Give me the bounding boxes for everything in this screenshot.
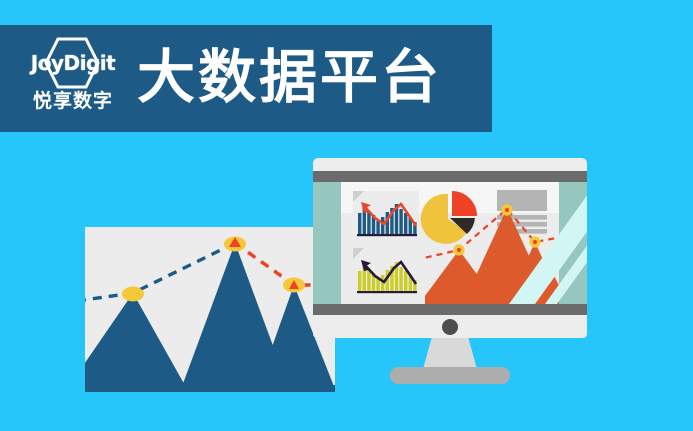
logo-subtext: 悦享数字	[33, 92, 113, 111]
trend-line	[364, 204, 416, 226]
brand-logo: JoyDigit 悦享数字	[14, 33, 132, 125]
mountain-trend-panel	[85, 227, 335, 392]
logo-wordmark: JoyDigit	[31, 53, 115, 73]
blue-bar-card	[353, 191, 419, 239]
monitor-stand-base	[390, 367, 510, 384]
mountain-trend-chart	[85, 227, 335, 392]
trend-line	[364, 262, 416, 284]
trend-marker-core	[505, 208, 509, 212]
monitor-bottom-bar	[313, 304, 587, 315]
desktop-monitor	[313, 158, 587, 390]
yellow-bar-card	[353, 248, 419, 296]
monitor-screen	[313, 182, 587, 304]
orange-mountain-chart	[425, 204, 559, 304]
blue-bar-chart	[353, 191, 419, 239]
axis-baseline	[357, 291, 417, 293]
page-title: 大数据平台	[137, 48, 442, 106]
axis-baseline	[357, 234, 417, 236]
monitor-top-bar	[313, 171, 587, 182]
header-banner: JoyDigit 悦享数字 大数据平台	[0, 25, 492, 132]
trend-marker-core	[457, 248, 461, 252]
mountain-baseline	[85, 385, 335, 392]
mountain-shape-1	[85, 293, 187, 389]
monitor-camera-dot	[442, 319, 458, 335]
monitor-stand-neck	[423, 338, 477, 369]
poster-canvas: JoyDigit 悦享数字 大数据平台	[0, 0, 693, 431]
yellow-bar-chart	[353, 248, 419, 296]
trend-dash-blue	[85, 243, 235, 301]
trend-marker-core	[533, 240, 537, 244]
trend-marker	[122, 287, 144, 302]
